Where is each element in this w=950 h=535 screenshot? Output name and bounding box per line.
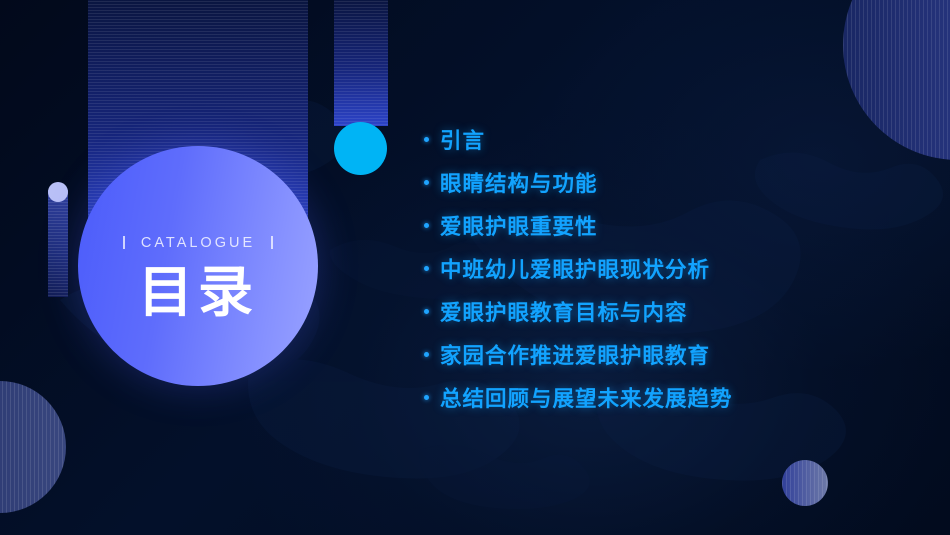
toc-item-label: 眼睛结构与功能 <box>440 167 598 198</box>
bullet-icon <box>424 180 429 185</box>
toc-item-6[interactable]: 家园合作推进爱眼护眼教育 <box>424 333 924 376</box>
toc-item-4[interactable]: 中班幼儿爱眼护眼现状分析 <box>424 247 924 290</box>
bullet-icon <box>424 395 429 400</box>
decor-circle-cyan-accent <box>334 122 387 175</box>
tick-mark-right-icon <box>271 236 273 249</box>
bullet-icon <box>424 352 429 357</box>
bullet-icon <box>424 137 429 142</box>
tick-mark-left-icon <box>123 236 125 249</box>
catalogue-circle: CATALOGUE 目录 <box>78 146 318 386</box>
toc-item-2[interactable]: 眼睛结构与功能 <box>424 161 924 204</box>
toc-item-5[interactable]: 爱眼护眼教育目标与内容 <box>424 290 924 333</box>
toc-item-label: 总结回顾与展望未来发展趋势 <box>440 382 733 413</box>
toc-item-3[interactable]: 爱眼护眼重要性 <box>424 204 924 247</box>
toc-item-label: 引言 <box>440 124 485 155</box>
toc-item-label: 爱眼护眼教育目标与内容 <box>440 296 688 327</box>
catalogue-title: 目录 <box>138 265 258 320</box>
toc-item-label: 家园合作推进爱眼护眼教育 <box>440 339 710 370</box>
bullet-icon <box>424 266 429 271</box>
decor-circle-bottom-left <box>0 381 66 513</box>
catalogue-eyebrow-label: CATALOGUE <box>141 235 255 251</box>
decor-striped-bar-slim <box>334 0 388 126</box>
table-of-contents: 引言 眼睛结构与功能 爱眼护眼重要性 中班幼儿爱眼护眼现状分析 爱眼护眼教育目标… <box>424 118 924 419</box>
bullet-icon <box>424 223 429 228</box>
bullet-icon <box>424 309 429 314</box>
presentation-slide: CATALOGUE 目录 引言 眼睛结构与功能 爱眼护眼重要性 中班幼儿爱眼护眼… <box>0 0 950 535</box>
decor-circle-bottom-right <box>782 460 828 506</box>
toc-item-1[interactable]: 引言 <box>424 118 924 161</box>
catalogue-eyebrow-row: CATALOGUE <box>123 235 273 251</box>
decor-dot-lavender <box>48 182 68 202</box>
toc-item-7[interactable]: 总结回顾与展望未来发展趋势 <box>424 376 924 419</box>
decor-striped-bar-thin <box>48 190 68 297</box>
toc-item-label: 中班幼儿爱眼护眼现状分析 <box>440 253 710 284</box>
toc-item-label: 爱眼护眼重要性 <box>440 210 598 241</box>
